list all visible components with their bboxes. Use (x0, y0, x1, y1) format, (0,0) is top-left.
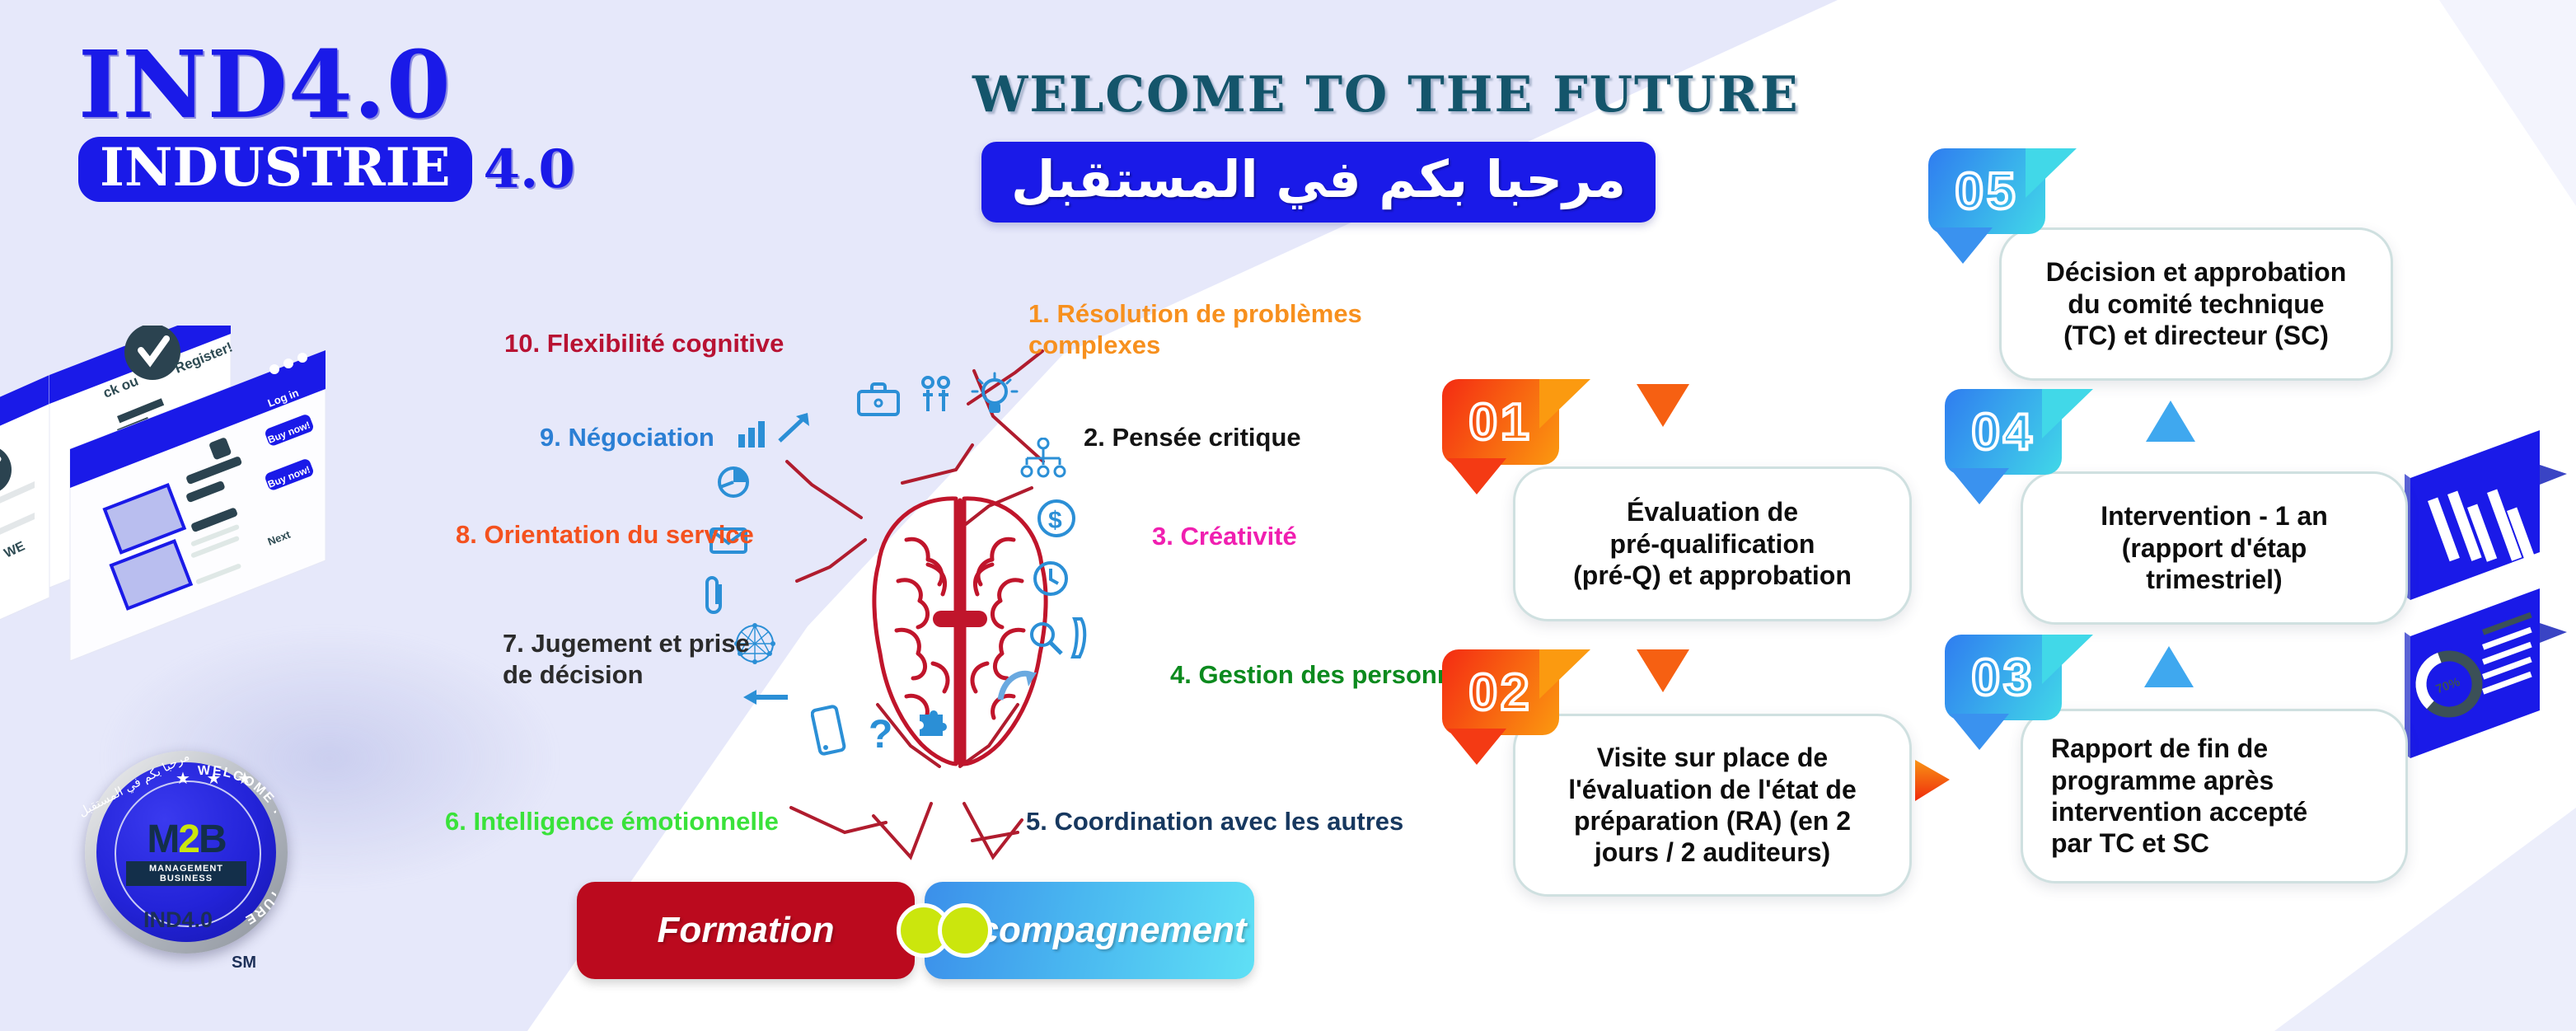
badge-03: 03 (1945, 635, 2062, 740)
skill-label-2: 2. Pensée critique (1084, 422, 1301, 453)
poster-canvas: WE ck ou Register! (0, 0, 2576, 1031)
skill-label-6: 6. Intelligence émotionnelle (445, 806, 779, 837)
logo-version: 4.0 (484, 143, 575, 196)
formation-label: Formation (657, 910, 834, 951)
triangle-up-04 (2146, 401, 2195, 442)
logo-industrie-pill: INDUSTRIE (78, 137, 472, 202)
svg-text:$: $ (1048, 507, 1062, 534)
skill-label-1: 1. Résolution de problèmes complexes (1028, 298, 1362, 361)
svg-text:?: ? (869, 713, 892, 757)
process-card-03-body: Rapport de fin de programme après interv… (2021, 709, 2408, 883)
isometric-chart-cards: 70% (2390, 429, 2576, 783)
seal-brand-b: B (199, 818, 226, 861)
badge-02: 02 (1442, 649, 1559, 755)
logo-ind40: IND4.0 INDUSTRIE 4.0 (78, 40, 575, 202)
badge-03-number: 03 (1945, 635, 2062, 720)
welcome-arabic: مرحبا بكم في المستقبل (1011, 152, 1626, 208)
seal-trademark: SM (232, 954, 256, 972)
magnifier-icon (1027, 619, 1065, 657)
badge-04-number: 04 (1945, 389, 2062, 475)
badge-01-number: 01 (1442, 379, 1559, 465)
briefcase-icon (855, 382, 902, 418)
skill-label-9: 9. Négociation (540, 422, 714, 453)
skill-label-10: 10. Flexibilité cognitive (504, 328, 784, 359)
process-card-02-body: Visite sur place de l'évaluation de l'ét… (1513, 714, 1912, 897)
formation-chip[interactable]: Formation (577, 882, 915, 979)
process-card-05-body: Décision et approbation du comité techni… (1999, 227, 2393, 381)
puzzle-icon (915, 706, 953, 738)
smartphone-icon (811, 705, 847, 756)
badge-01: 01 (1442, 379, 1559, 485)
badge-04: 04 (1945, 389, 2062, 494)
process-card-05-text: Décision et approbation du comité techni… (2046, 256, 2346, 351)
triangle-down-01 (1637, 384, 1689, 427)
skill-label-7: 7. Jugement et prise de décision (503, 628, 750, 691)
process-card-03-text: Rapport de fin de programme après interv… (2051, 733, 2307, 860)
process-card-04-body: Intervention - 1 an (rapport d'étap trim… (2021, 471, 2408, 625)
badge-02-number: 02 (1442, 649, 1559, 735)
triangle-up-03 (2144, 646, 2194, 687)
paperclip-icon (702, 574, 728, 616)
knot-icon (897, 903, 995, 958)
welcome-block: WELCOME TO THE FUTURE مرحبا بكم في المست… (972, 66, 1665, 223)
welcome-arabic-pill: مرحبا بكم في المستقبل (981, 142, 1656, 223)
m2b-seal: WELCOME TO THE FUTURE مرحبا بكم في المست… (78, 746, 301, 985)
people-icon (916, 375, 954, 418)
formation-banner: Formation Accompagnement (577, 882, 1254, 979)
hierarchy-icon (1020, 438, 1066, 484)
seal-brand-2: 2 (178, 818, 199, 861)
seal-bottom-label: IND4.0 (116, 907, 240, 933)
skill-label-4: 4. Gestion des personnes (1170, 659, 1481, 691)
badge-05-number: 05 (1928, 148, 2045, 234)
curved-arrow-icon (997, 665, 1040, 705)
process-card-04-text: Intervention - 1 an (rapport d'étap trim… (2101, 500, 2328, 595)
logo-title: IND4.0 (78, 40, 575, 132)
play-arrow-icon (1912, 757, 1955, 808)
dollar-icon: $ (1035, 497, 1078, 540)
pen-icon (1065, 616, 1091, 662)
process-card-01-text: Évaluation de pré-qualification (pré-Q) … (1573, 496, 1852, 591)
badge-05: 05 (1928, 148, 2045, 254)
skill-label-8: 8. Orientation du service (456, 519, 754, 551)
isometric-browser-illustration: WE ck ou Register! (0, 326, 371, 696)
seal-brand-m: M (147, 818, 178, 861)
seal-brand: M2B MANAGEMENT BUSINESS (126, 820, 246, 886)
pie-chart-icon (715, 464, 752, 500)
seal-stars: ★ ★ ★ (176, 768, 258, 789)
seal-tagline: MANAGEMENT BUSINESS (126, 861, 246, 886)
triangle-down-02 (1637, 649, 1689, 692)
clock-icon (1030, 558, 1071, 599)
question-mark-icon: ? (865, 713, 895, 761)
process-card-01-body: Évaluation de pré-qualification (pré-Q) … (1513, 466, 1912, 621)
skill-label-3: 3. Créativité (1152, 521, 1297, 552)
process-card-02-text: Visite sur place de l'évaluation de l'ét… (1568, 742, 1857, 869)
lightbulb-icon (971, 372, 1019, 419)
welcome-english: WELCOME TO THE FUTURE (972, 66, 1665, 124)
brain-illustration: ? $ (791, 457, 1129, 779)
bar-chart-icon (735, 418, 773, 451)
skill-label-5: 5. Coordination avec les autres (1026, 806, 1403, 837)
trend-arrow-icon (776, 410, 813, 446)
